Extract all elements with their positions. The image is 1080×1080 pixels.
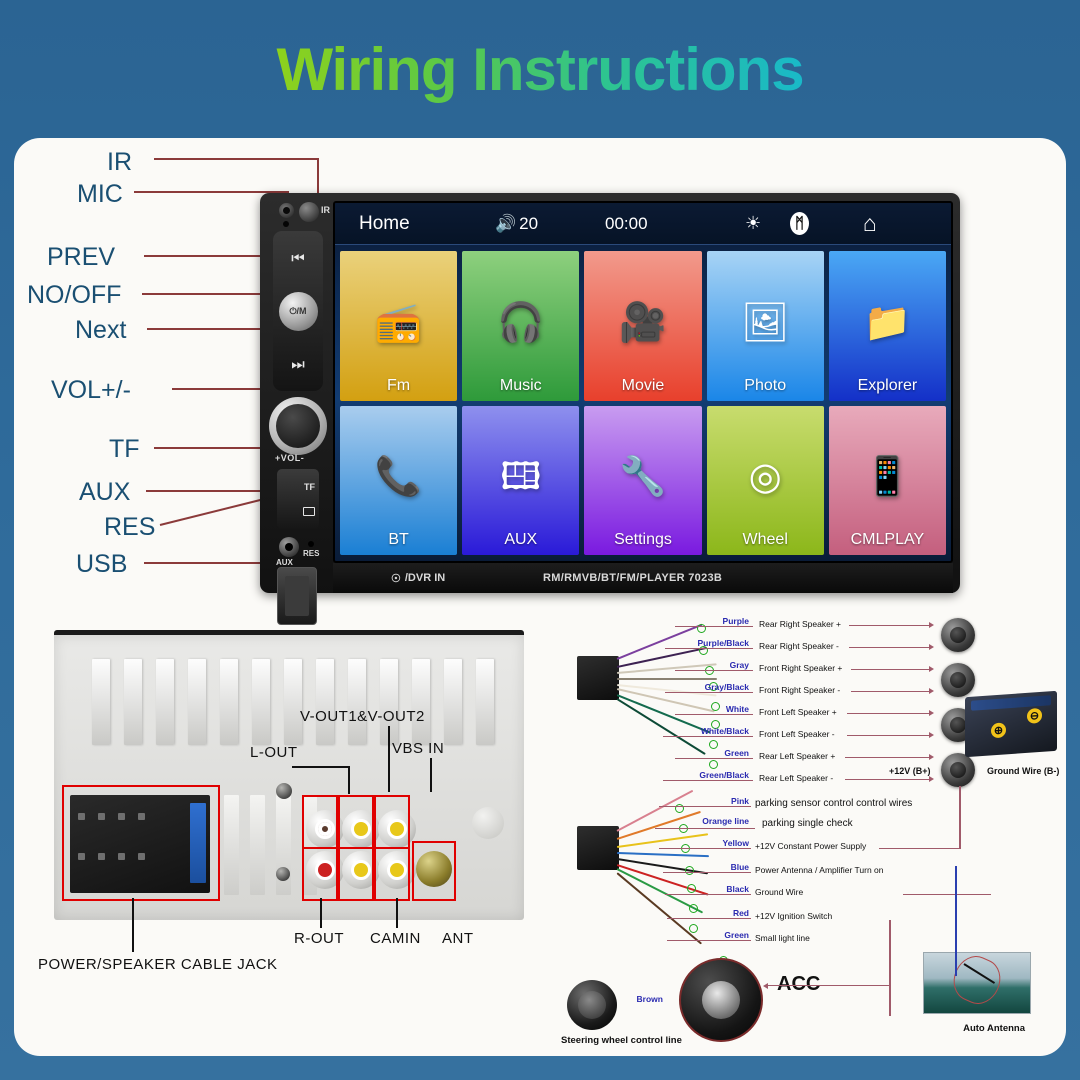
leader-aux	[146, 490, 278, 492]
leader-res	[160, 497, 267, 526]
volume-icon: 🔊	[495, 214, 516, 234]
wire-func-label: Small light line	[755, 933, 810, 943]
folder-icon: 📁	[864, 304, 911, 342]
wire-color-label: Purple	[677, 616, 749, 626]
callout-mic: MIC	[77, 180, 123, 209]
res-label: RES	[303, 549, 319, 558]
wire-func-label: Front Left Speaker +	[759, 707, 837, 717]
label-ant: ANT	[442, 930, 474, 947]
battery-pos-terminal: ⊕	[991, 722, 1006, 738]
speaker-rear-left	[941, 753, 975, 787]
tile-label: Wheel	[743, 531, 788, 549]
wire-color-label: White	[677, 704, 749, 714]
wire-color-label: Yellow	[671, 838, 749, 848]
callout-ir: IR	[107, 148, 132, 177]
tile-music[interactable]: 🎧 Music	[462, 251, 579, 401]
wire-func-label: Front Left Speaker -	[759, 729, 835, 739]
tile-label: Explorer	[858, 377, 918, 395]
callout-prev: PREV	[47, 243, 115, 272]
leader-usb	[144, 562, 279, 564]
tile-label: Settings	[614, 531, 672, 549]
callout-aux: AUX	[79, 478, 130, 507]
auto-antenna-photo	[923, 952, 1031, 1014]
headphones-icon: 🎧	[497, 304, 544, 342]
reset-knob[interactable]	[299, 202, 319, 222]
leader-power-jack	[132, 898, 134, 952]
callout-tf: TF	[109, 435, 140, 464]
ir-label: IR	[321, 205, 330, 215]
antenna-caption: Auto Antenna	[963, 1023, 1025, 1034]
car-battery: ⊕ ⊖	[965, 691, 1057, 757]
tile-settings[interactable]: 🔧 Settings	[584, 406, 701, 556]
tile-aux[interactable]: 🖽 AUX	[462, 406, 579, 556]
bluetooth-glyph: ᛗ	[790, 212, 809, 235]
power-mode-button[interactable]: ⏻/M	[279, 292, 318, 331]
tile-movie[interactable]: 🎥 Movie	[584, 251, 701, 401]
phone-mirror-icon: 📱	[864, 458, 911, 496]
wire-func-label: Rear Right Speaker +	[759, 619, 841, 629]
tf-label: TF	[304, 482, 315, 492]
highlight-camin	[374, 847, 410, 901]
leader-camin	[396, 898, 398, 928]
wire-color-label: Green	[677, 748, 749, 758]
highlight-v-out2	[338, 847, 374, 901]
wire-blue	[617, 852, 709, 858]
callout-nooff: NO/OFF	[27, 281, 121, 310]
front-panel-section: IR MIC PREV NO/OFF Next VOL+/- TF AUX RE…	[14, 138, 1066, 618]
aux-input-icon: 🖽	[500, 458, 541, 496]
leader-v-out	[388, 726, 390, 792]
car-stereo-unit: IR ⏮ ⏻/M ⏭ +VOL- TF AUX RES	[260, 193, 960, 593]
wire-func-label: Front Right Speaker +	[759, 663, 842, 673]
battery-positive-label: +12V (B+)	[889, 766, 931, 776]
leader-l-out	[292, 766, 348, 768]
power-harness-connector	[577, 826, 619, 870]
phone-bluetooth-icon: 📞	[375, 458, 422, 496]
wire-func-label: Rear Right Speaker -	[759, 641, 839, 651]
bottom-bezel: ☉ /DVR IN RM/RMVB/BT/FM/PLAYER 7023B	[333, 563, 953, 593]
wire-color-label: Blue	[671, 862, 749, 872]
tile-cmlplay[interactable]: 📱 CMLPLAY	[829, 406, 946, 556]
speaker-harness-connector	[577, 656, 619, 700]
leader-r-out	[320, 898, 322, 928]
rear-panel-photo	[54, 630, 524, 920]
wire-color-label: Orange line	[659, 816, 749, 826]
tile-explorer[interactable]: 📁 Explorer	[829, 251, 946, 401]
aux-rear-jack[interactable]	[276, 867, 290, 881]
aux-label: AUX	[276, 558, 293, 567]
ignition-switch-photo	[679, 958, 763, 1042]
label-v-out: V-OUT1&V-OUT2	[300, 708, 425, 725]
reset-pinhole[interactable]	[308, 541, 314, 547]
bluetooth-icon[interactable]: ᛗ	[790, 212, 809, 235]
steering-wheel-photo	[567, 980, 617, 1030]
highlight-vbs-in	[374, 795, 410, 849]
picture-icon: 🖼	[741, 304, 789, 342]
status-clock: 00:00	[605, 214, 648, 234]
model-label: RM/RMVB/BT/FM/PLAYER 7023B	[543, 572, 722, 584]
tile-label: BT	[388, 531, 408, 549]
wire-func-label: Front Right Speaker -	[759, 685, 840, 695]
highlight-r-out	[302, 847, 338, 901]
prev-button[interactable]: ⏮	[291, 250, 305, 267]
dvr-in-port: ☉ /DVR IN	[391, 572, 445, 585]
l-out-jack[interactable]	[276, 783, 292, 799]
status-bar: Home 🔊 20 00:00 ☀ ᛗ ⌂	[335, 203, 951, 245]
label-camin: CAMIN	[370, 930, 421, 947]
wire-color-label: Black	[671, 884, 749, 894]
wire-color-label: Red	[671, 908, 749, 918]
leader-l-out-v	[348, 766, 350, 794]
home-icon[interactable]: ⌂	[863, 210, 877, 237]
battery-negative-label: Ground Wire (B-)	[987, 766, 1059, 776]
wire-func-label: Ground Wire	[755, 887, 803, 897]
tile-label: Fm	[387, 377, 410, 395]
wire-func-label: Power Antenna / Amplifier Turn on	[755, 865, 884, 875]
label-power-jack: POWER/SPEAKER CABLE JACK	[38, 956, 278, 973]
rear-panel-section: V-OUT1&V-OUT2 VBS IN L-OUT R-OUT CAMIN A…	[32, 608, 552, 1048]
wire-func-label: +12V Constant Power Supply	[755, 841, 866, 851]
battery-neg-terminal: ⊖	[1027, 708, 1042, 724]
tile-fm[interactable]: 📻 Fm	[340, 251, 457, 401]
wire-func-label: +12V Ignition Switch	[755, 911, 832, 921]
mic-icon	[279, 203, 294, 218]
wire-func-label: parking single check	[762, 818, 853, 829]
wire-func-label: Rear Left Speaker -	[759, 773, 833, 783]
highlight-ant	[412, 841, 456, 901]
wire-func-label: Rear Left Speaker +	[759, 751, 835, 761]
wiring-diagram-section: Purple Rear Right Speaker + Purple/Black…	[559, 608, 1059, 1048]
speaker-rear-right	[941, 618, 975, 652]
status-home-text: Home	[359, 213, 410, 235]
brightness-icon[interactable]: ☀	[745, 213, 761, 234]
wire-color-label: Gray	[677, 660, 749, 670]
label-r-out: R-OUT	[294, 930, 344, 947]
wire-color-label: Green/Black	[665, 770, 749, 780]
tile-label: Movie	[622, 377, 665, 395]
wire-gray-black	[617, 678, 717, 680]
callout-next: Next	[75, 316, 126, 345]
transport-button-strip: ⏮ ⏻/M ⏭	[273, 231, 323, 391]
label-l-out: L-OUT	[250, 744, 298, 761]
control-column: IR ⏮ ⏻/M ⏭ +VOL- TF AUX RES	[267, 201, 329, 593]
page-title: Wiring Instructions	[276, 35, 803, 104]
app-tile-grid: 📻 Fm 🎧 Music 🎥 Movie 🖼	[335, 245, 951, 561]
tile-bt[interactable]: 📞 BT	[340, 406, 457, 556]
label-vbs-in: VBS IN	[392, 740, 444, 757]
tile-photo[interactable]: 🖼 Photo	[707, 251, 824, 401]
mic-pinhole-icon	[283, 221, 289, 227]
speaker-front-right	[941, 663, 975, 697]
highlight-l-out	[302, 795, 338, 849]
volume-knob-label: +VOL-	[275, 453, 304, 463]
tile-label: AUX	[504, 531, 537, 549]
wire-color-label: Purple/Black	[667, 638, 749, 648]
dvr-label: /DVR IN	[405, 572, 445, 584]
highlight-v-out1	[338, 795, 374, 849]
video-camera-icon: 🎥	[619, 304, 666, 342]
leader-vbs-in	[430, 758, 432, 792]
screen-wrapper: Home 🔊 20 00:00 ☀ ᛗ ⌂	[333, 201, 953, 593]
gps-socket[interactable]	[472, 807, 504, 839]
steering-wheel-icon: ◎	[749, 458, 782, 496]
callout-usb: USB	[76, 550, 127, 579]
leader-ir	[154, 158, 319, 160]
title-bar: Wiring Instructions	[0, 0, 1080, 138]
volume-value: 20	[519, 214, 538, 234]
radio-icon: 📻	[375, 304, 422, 342]
status-volume[interactable]: 🔊 20	[495, 214, 538, 234]
touchscreen[interactable]: Home 🔊 20 00:00 ☀ ᛗ ⌂	[333, 201, 953, 563]
wire-color-label: White/Black	[665, 726, 749, 736]
tile-label: CMLPLAY	[851, 531, 925, 549]
volume-knob[interactable]	[269, 397, 327, 455]
steering-wire-color: Brown	[617, 994, 663, 1004]
steering-caption: Steering wheel control line	[561, 1035, 682, 1046]
wire-color-label: Gray/Black	[667, 682, 749, 692]
tile-label: Photo	[744, 377, 786, 395]
sd-card-icon	[303, 507, 315, 516]
wire-color-label: Green	[671, 930, 749, 940]
tf-card-slot[interactable]: TF	[277, 469, 319, 529]
wrench-icon: 🔧	[619, 458, 666, 496]
aux-jack[interactable]	[279, 537, 299, 557]
highlight-power-jack	[62, 785, 220, 901]
next-button[interactable]: ⏭	[291, 356, 305, 373]
wire-func-label: parking sensor control control wires	[755, 798, 912, 809]
tile-label: Music	[500, 377, 542, 395]
tile-wheel[interactable]: ◎ Wheel	[707, 406, 824, 556]
wire-color-label: Pink	[671, 796, 749, 806]
content-card: IR MIC PREV NO/OFF Next VOL+/- TF AUX RE…	[14, 138, 1066, 1056]
callout-res: RES	[104, 513, 155, 542]
callout-vol: VOL+/-	[51, 376, 131, 405]
camera-pin-icon: ☉	[391, 572, 401, 585]
